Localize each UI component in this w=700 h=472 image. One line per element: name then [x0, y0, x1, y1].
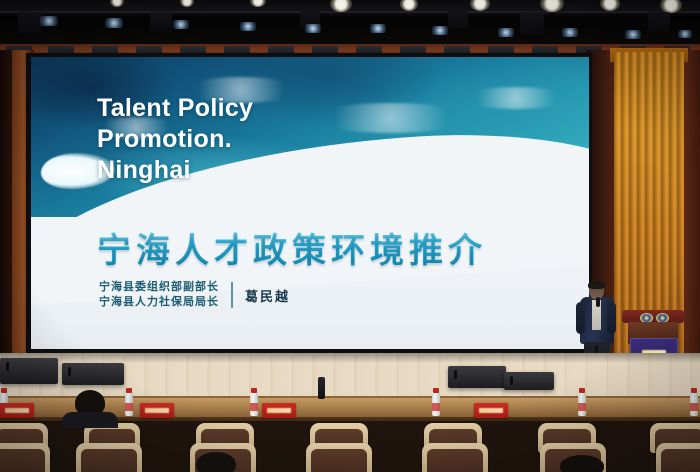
projection-screen: Talent Policy Promotion. Ninghai 宁海人才政策环… — [31, 57, 589, 349]
led-light-icon — [678, 30, 692, 38]
slide-subtitle: 宁海县委组织部副部长 宁海县人力社保局局长 葛民越 — [99, 280, 290, 310]
stage-floor-shadow — [0, 353, 700, 363]
slide-english-line-2: Promotion. — [97, 124, 253, 155]
name-card — [0, 403, 34, 418]
seat — [76, 443, 142, 472]
water-bottle — [250, 392, 258, 416]
light-fixture — [150, 12, 172, 32]
speaker-arm-right — [607, 302, 616, 334]
led-light-icon — [105, 18, 123, 28]
floor-monitor — [504, 372, 554, 390]
led-light-icon — [432, 26, 448, 35]
led-light-icon — [498, 28, 514, 37]
slide-subtitle-line-1: 宁海县委组织部副部长 — [99, 280, 219, 295]
name-card — [262, 403, 296, 418]
desk-microphone-icon — [318, 377, 325, 399]
slide-english-line-3: Ninghai — [97, 155, 253, 186]
speaker-arm-left — [576, 302, 585, 334]
seat — [0, 443, 50, 472]
stage-wall-left-shadow — [0, 50, 12, 380]
seat — [306, 443, 372, 472]
water-bottle — [578, 392, 586, 416]
speaker-hair — [588, 281, 605, 289]
light-fixture — [520, 12, 544, 34]
floor-monitor — [62, 363, 124, 385]
led-light-icon — [562, 28, 578, 37]
light-fixture — [448, 10, 468, 28]
led-light-icon — [173, 20, 189, 29]
slide-english-line-1: Talent Policy — [97, 93, 253, 124]
slide-subtitle-lines: 宁海县委组织部副部长 宁海县人力社保局局长 — [99, 280, 219, 310]
seat — [656, 443, 700, 472]
seat — [422, 443, 488, 472]
led-light-icon — [370, 24, 386, 33]
subtitle-divider — [231, 282, 233, 308]
audience-head — [560, 455, 604, 472]
led-light-icon — [240, 22, 256, 31]
water-bottle — [432, 392, 440, 416]
microphone-icon — [596, 297, 600, 307]
water-bottle — [125, 392, 133, 416]
slide-speaker-name: 葛民越 — [245, 286, 290, 305]
water-bottle — [690, 392, 698, 416]
slide-english-title: Talent Policy Promotion. Ninghai — [97, 93, 253, 186]
floor-monitor — [448, 366, 506, 388]
slide-subtitle-line-2: 宁海县人力社保局局长 — [99, 295, 219, 310]
slide-chinese-title: 宁海人才政策环境推介 — [97, 223, 487, 272]
light-fixture — [18, 12, 42, 34]
led-light-icon — [40, 16, 58, 26]
name-card — [140, 403, 174, 418]
name-card — [474, 403, 508, 418]
screenshot-root: Talent Policy Promotion. Ninghai 宁海人才政策环… — [0, 0, 700, 472]
floor-monitor — [0, 358, 58, 384]
audience-shoulders — [62, 412, 118, 428]
light-fixture — [648, 12, 670, 32]
led-light-icon — [305, 24, 321, 33]
led-light-icon — [625, 30, 641, 39]
audience-head — [196, 452, 236, 472]
